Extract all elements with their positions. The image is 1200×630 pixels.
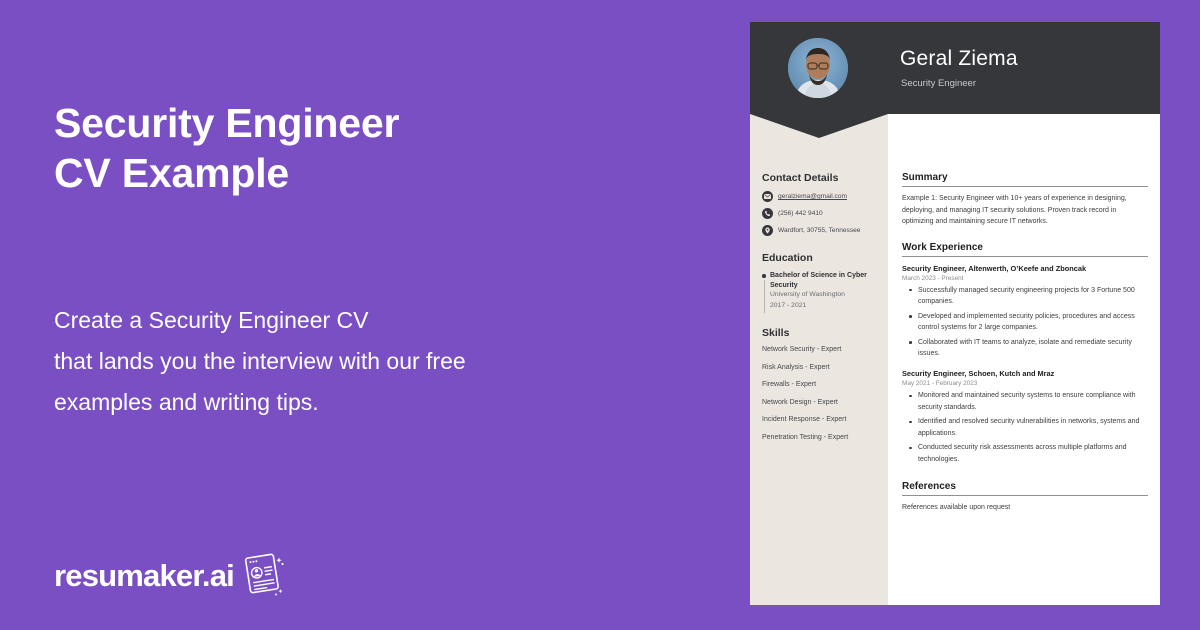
references-section: References References available upon req… bbox=[902, 481, 1148, 514]
contact-phone-value: (256) 442 9410 bbox=[778, 209, 823, 218]
education-years: 2017 - 2021 bbox=[770, 301, 880, 312]
skill-item: Risk Analysis - Expert bbox=[762, 364, 880, 371]
work-experience-section: Work Experience Security Engineer, Alten… bbox=[902, 242, 1148, 466]
job-title: Security Engineer, Schoen, Kutch and Mra… bbox=[902, 368, 1148, 379]
resume-document-icon bbox=[237, 548, 287, 598]
avatar bbox=[788, 38, 848, 98]
education-section: Education Bachelor of Science in Cyber S… bbox=[762, 252, 880, 311]
job-title: Security Engineer, Altenwerth, O’Keefe a… bbox=[902, 263, 1148, 274]
job-dates: May 2021 - February 2023 bbox=[902, 379, 1148, 389]
education-school: University of Washington bbox=[770, 290, 880, 301]
work-experience-item: Security Engineer, Altenwerth, O’Keefe a… bbox=[902, 263, 1148, 360]
resumaker-logo[interactable]: resumaker.ai bbox=[54, 553, 287, 597]
summary-section: Summary Example 1: Security Engineer wit… bbox=[902, 172, 1148, 228]
phone-icon bbox=[762, 208, 773, 219]
location-pin-icon bbox=[762, 225, 773, 236]
promo-panel: Security Engineer CV Example Create a Se… bbox=[0, 0, 740, 630]
skill-item: Penetration Testing - Expert bbox=[762, 434, 880, 441]
cv-header: Geral Ziema Security Engineer bbox=[750, 22, 1160, 114]
skill-item: Network Design - Expert bbox=[762, 399, 880, 406]
job-bullet: Monitored and maintained security system… bbox=[918, 390, 1148, 413]
cv-candidate-role: Security Engineer bbox=[901, 78, 976, 89]
summary-text: Example 1: Security Engineer with 10+ ye… bbox=[902, 193, 1148, 228]
work-experience-item: Security Engineer, Schoen, Kutch and Mra… bbox=[902, 368, 1148, 465]
cv-candidate-name: Geral Ziema bbox=[900, 47, 1018, 71]
summary-heading: Summary bbox=[902, 172, 1148, 187]
work-experience-heading: Work Experience bbox=[902, 242, 1148, 257]
skill-item: Incident Response - Expert bbox=[762, 416, 880, 423]
skills-section: Skills Network Security - Expert Risk An… bbox=[762, 327, 880, 441]
references-heading: References bbox=[902, 481, 1148, 496]
skill-item: Firewalls - Expert bbox=[762, 381, 880, 388]
contact-location-value: Wardfort, 30755, Tennessee bbox=[778, 226, 860, 235]
cv-preview-card[interactable]: Geral Ziema Security Engineer Contact De… bbox=[750, 22, 1160, 605]
cv-sidebar: Contact Details geralziema@gmail.com bbox=[750, 114, 888, 605]
promo-subtitle: Create a Security Engineer CV that lands… bbox=[54, 300, 466, 423]
references-text: References available upon request bbox=[902, 502, 1148, 514]
contact-details-section: Contact Details geralziema@gmail.com bbox=[762, 172, 880, 236]
cv-main-column: Summary Example 1: Security Engineer wit… bbox=[888, 114, 1160, 605]
education-degree: Bachelor of Science in Cyber Security bbox=[770, 272, 867, 289]
contact-item-email[interactable]: geralziema@gmail.com bbox=[762, 191, 880, 202]
education-heading: Education bbox=[762, 252, 880, 264]
education-bullet-icon bbox=[762, 271, 770, 311]
job-dates: March 2023 - Present bbox=[902, 274, 1148, 284]
logo-wordmark: resumaker.ai bbox=[54, 560, 234, 591]
skill-item: Network Security - Expert bbox=[762, 346, 880, 353]
job-bullet: Successfully managed security engineerin… bbox=[918, 285, 1148, 308]
contact-item-location[interactable]: Wardfort, 30755, Tennessee bbox=[762, 225, 880, 236]
job-bullet: Identified and resolved security vulnera… bbox=[918, 416, 1148, 439]
skills-heading: Skills bbox=[762, 327, 880, 339]
envelope-icon bbox=[762, 191, 773, 202]
contact-details-heading: Contact Details bbox=[762, 172, 880, 184]
page-title: Security Engineer CV Example bbox=[54, 98, 399, 198]
contact-email-value[interactable]: geralziema@gmail.com bbox=[778, 192, 847, 201]
job-bullet: Conducted security risk assessments acro… bbox=[918, 442, 1148, 465]
education-item: Bachelor of Science in Cyber Security Un… bbox=[762, 271, 880, 311]
job-bullet: Developed and implemented security polic… bbox=[918, 311, 1148, 334]
job-bullet: Collaborated with IT teams to analyze, i… bbox=[918, 337, 1148, 360]
contact-item-phone[interactable]: (256) 442 9410 bbox=[762, 208, 880, 219]
